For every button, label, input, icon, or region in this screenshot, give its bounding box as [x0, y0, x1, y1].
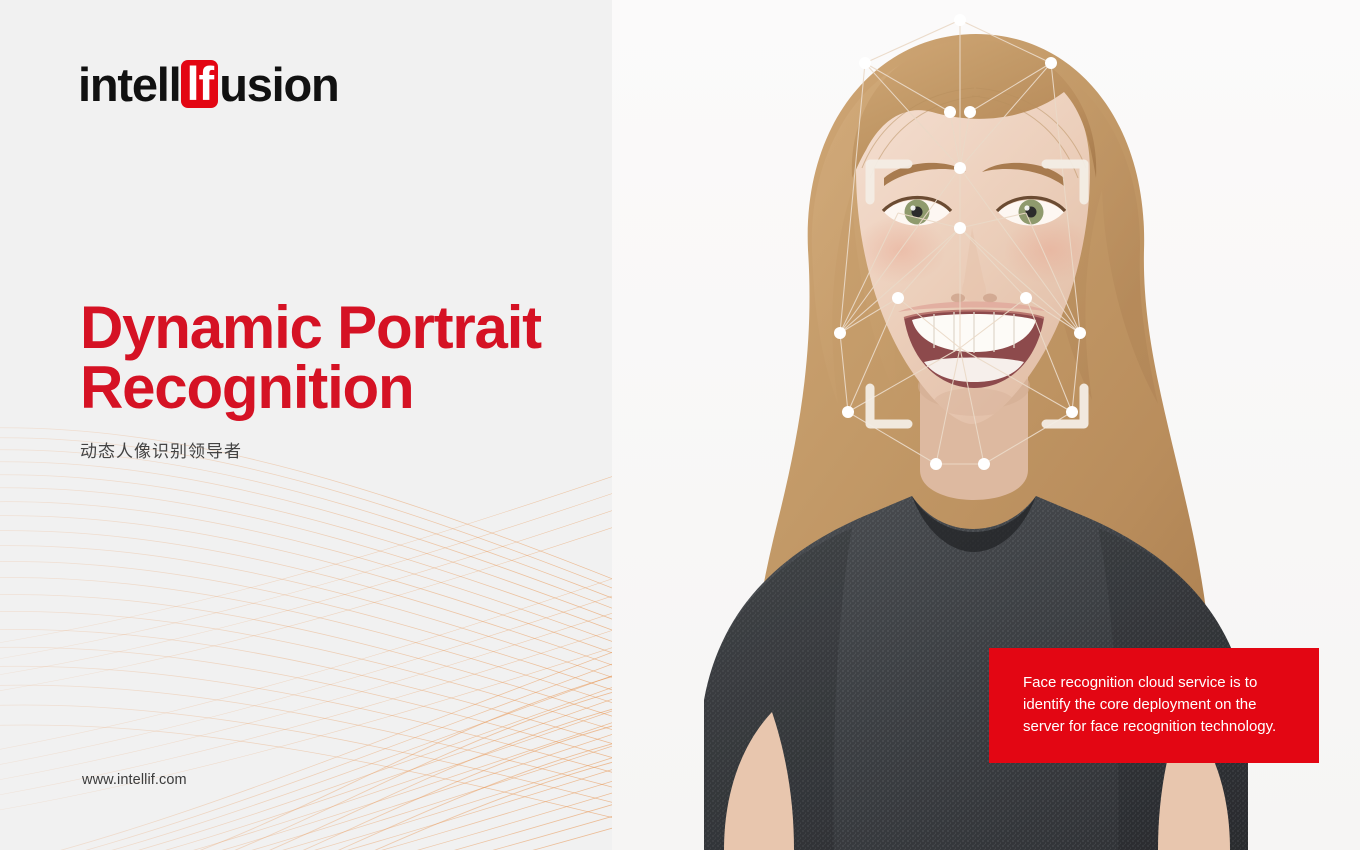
logo-text-after: usion	[219, 61, 338, 108]
page-subtitle: 动态人像识别领导者	[80, 442, 541, 462]
logo-text-before: intell	[78, 61, 180, 108]
website-url[interactable]: www.intellif.com	[82, 772, 187, 788]
caption-box: Face recognition cloud service is to ide…	[989, 648, 1319, 763]
caption-text: Face recognition cloud service is to ide…	[1023, 672, 1291, 737]
page-title: Dynamic Portrait Recognition	[80, 298, 541, 418]
headline-block: Dynamic Portrait Recognition 动态人像识别领导者	[80, 298, 541, 462]
slide-canvas: intell lf usion Dynamic Portrait Recogni…	[0, 0, 1360, 850]
logo-mark-if: lf	[181, 60, 218, 108]
brand-logo[interactable]: intell lf usion	[78, 60, 339, 108]
